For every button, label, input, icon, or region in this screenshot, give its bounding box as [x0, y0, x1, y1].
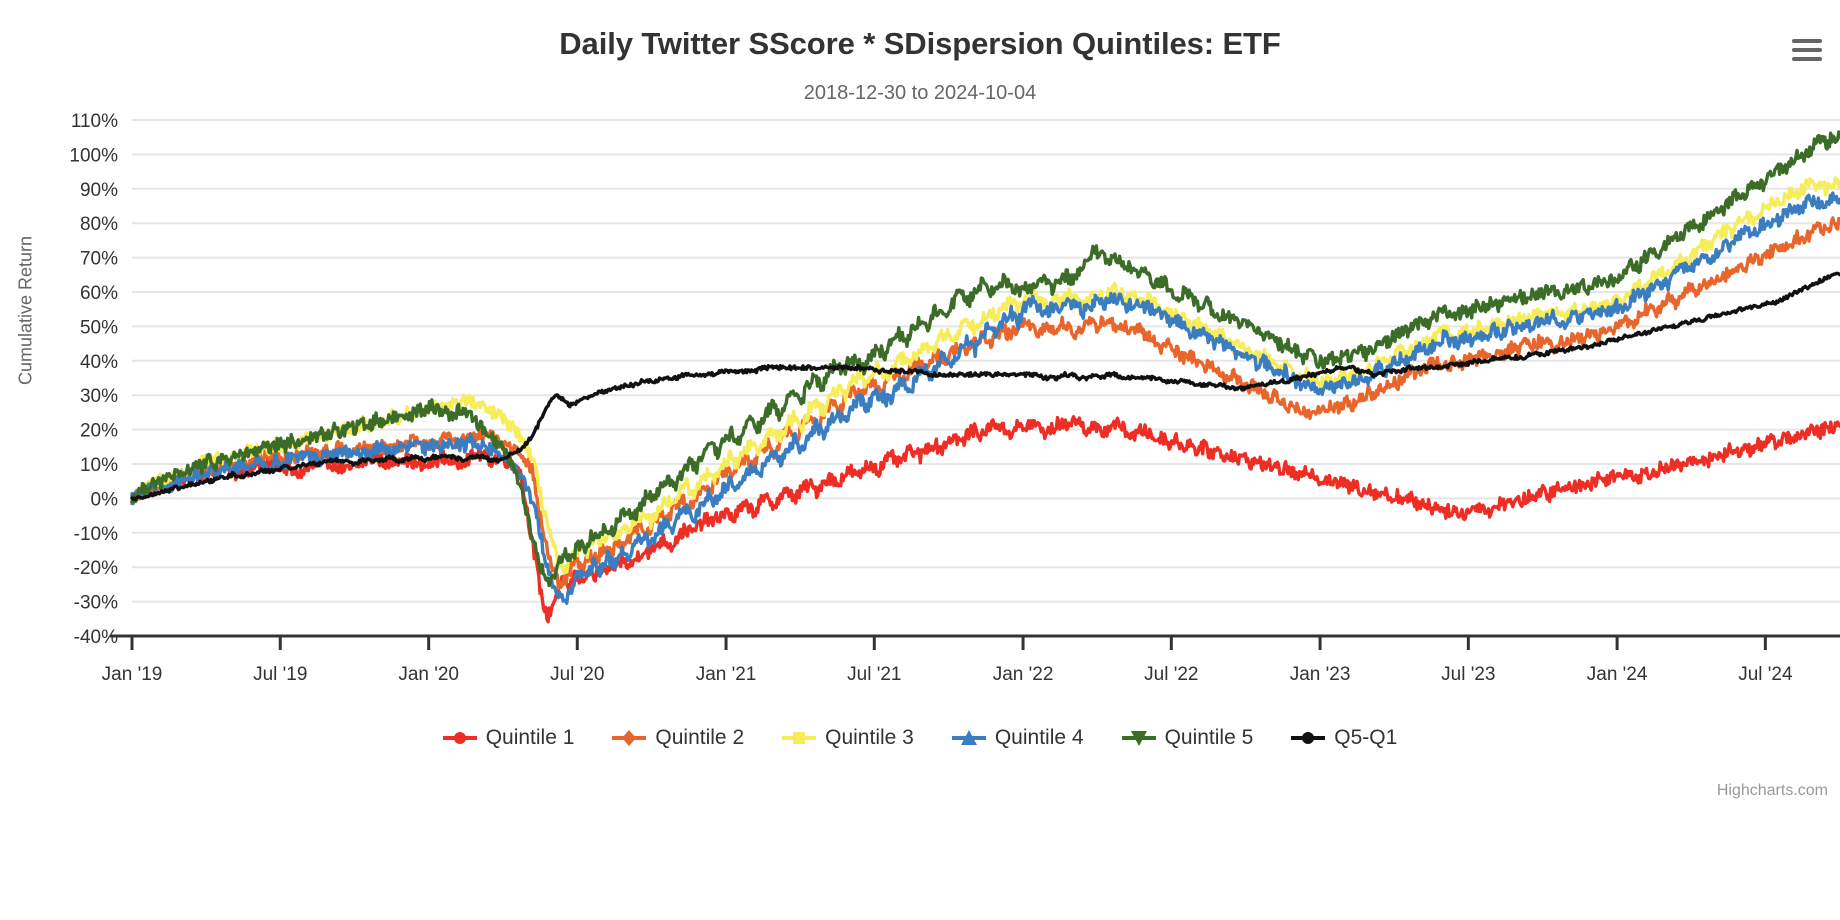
y-axis-tick-label: 30%: [80, 386, 118, 407]
menu-bar-2: [1792, 48, 1822, 52]
y-axis-tick-label: -10%: [74, 524, 118, 545]
menu-bar-3: [1792, 57, 1822, 61]
legend-item-quintile-5[interactable]: Quintile 5: [1122, 726, 1254, 750]
y-axis-tick-label: 0%: [91, 489, 119, 510]
x-axis-tick-label: Jul '22: [1144, 664, 1198, 685]
highcharts-credits-link[interactable]: Highcharts.com: [1717, 782, 1828, 800]
y-axis-tick-label: 70%: [80, 249, 118, 270]
x-axis-tick-label: Jan '19: [102, 664, 163, 685]
y-axis-tick-label: 10%: [80, 455, 118, 476]
y-axis-tick-label: -20%: [74, 558, 118, 579]
menu-bar-1: [1792, 39, 1822, 43]
legend-item-quintile-1[interactable]: Quintile 1: [443, 726, 575, 750]
chart-legend: Quintile 1Quintile 2Quintile 3Quintile 4…: [0, 726, 1840, 750]
series-line-quintile-1[interactable]: [132, 417, 1840, 622]
hamburger-menu-icon[interactable]: [1784, 34, 1822, 66]
chart-svg: 110%100%90%80%70%60%50%40%30%20%10%0%-10…: [0, 0, 1840, 920]
legend-item-label: Quintile 1: [486, 726, 575, 750]
x-axis-tick-label: Jul '21: [847, 664, 901, 685]
y-axis-tick-label: 80%: [80, 214, 118, 235]
legend-item-quintile-4[interactable]: Quintile 4: [952, 726, 1084, 750]
y-axis-tick-label: 110%: [71, 111, 118, 132]
page-title: Daily Twitter SScore * SDispersion Quint…: [0, 26, 1840, 62]
y-axis-tick-label: 90%: [80, 180, 118, 201]
x-axis-tick-label: Jan '20: [398, 664, 459, 685]
x-axis-tick-label: Jan '22: [993, 664, 1054, 685]
diamond-marker-icon: [612, 729, 646, 747]
y-axis-tick-label: 20%: [80, 421, 118, 442]
chart-subtitle: 2018-12-30 to 2024-10-04: [0, 82, 1840, 105]
x-axis-tick-label: Jul '20: [550, 664, 604, 685]
series-line-quintile-2[interactable]: [132, 218, 1840, 588]
x-axis-tick-label: Jan '21: [696, 664, 757, 685]
x-axis-tick-label: Jul '23: [1441, 664, 1495, 685]
legend-item-q5-q1[interactable]: Q5-Q1: [1291, 726, 1397, 750]
y-axis-tick-label: 40%: [80, 352, 118, 373]
legend-item-label: Quintile 5: [1165, 726, 1254, 750]
y-axis-tick-label: -40%: [74, 627, 118, 648]
series-line-quintile-3[interactable]: [132, 178, 1840, 573]
y-axis-tick-label: -30%: [74, 593, 118, 614]
triangle-down-marker-icon: [1122, 729, 1156, 747]
x-axis-tick-label: Jan '24: [1587, 664, 1648, 685]
y-axis-tick-label: 50%: [80, 317, 118, 338]
highcharts-container: Daily Twitter SScore * SDispersion Quint…: [0, 0, 1840, 920]
plot-area: 110%100%90%80%70%60%50%40%30%20%10%0%-10…: [0, 0, 1840, 920]
legend-item-label: Quintile 2: [655, 726, 744, 750]
series-line-q5-q1[interactable]: [132, 273, 1840, 499]
x-axis-tick-label: Jan '23: [1290, 664, 1351, 685]
legend-item-quintile-2[interactable]: Quintile 2: [612, 726, 744, 750]
series-line-quintile-4[interactable]: [132, 193, 1840, 603]
legend-item-quintile-3[interactable]: Quintile 3: [782, 726, 914, 750]
series-line-quintile-5[interactable]: [132, 132, 1840, 586]
y-axis-title: Cumulative Return: [16, 181, 37, 441]
triangle-marker-icon: [952, 729, 986, 747]
x-axis-tick-label: Jul '19: [253, 664, 307, 685]
circle-marker-icon: [443, 729, 477, 747]
circle-marker-icon: [1291, 729, 1325, 747]
y-axis-tick-label: 100%: [69, 145, 118, 166]
y-axis-tick-label: 60%: [80, 283, 118, 304]
legend-item-label: Quintile 4: [995, 726, 1084, 750]
square-marker-icon: [782, 729, 816, 747]
legend-item-label: Quintile 3: [825, 726, 914, 750]
x-axis-tick-label: Jul '24: [1738, 664, 1793, 685]
legend-item-label: Q5-Q1: [1334, 726, 1397, 750]
